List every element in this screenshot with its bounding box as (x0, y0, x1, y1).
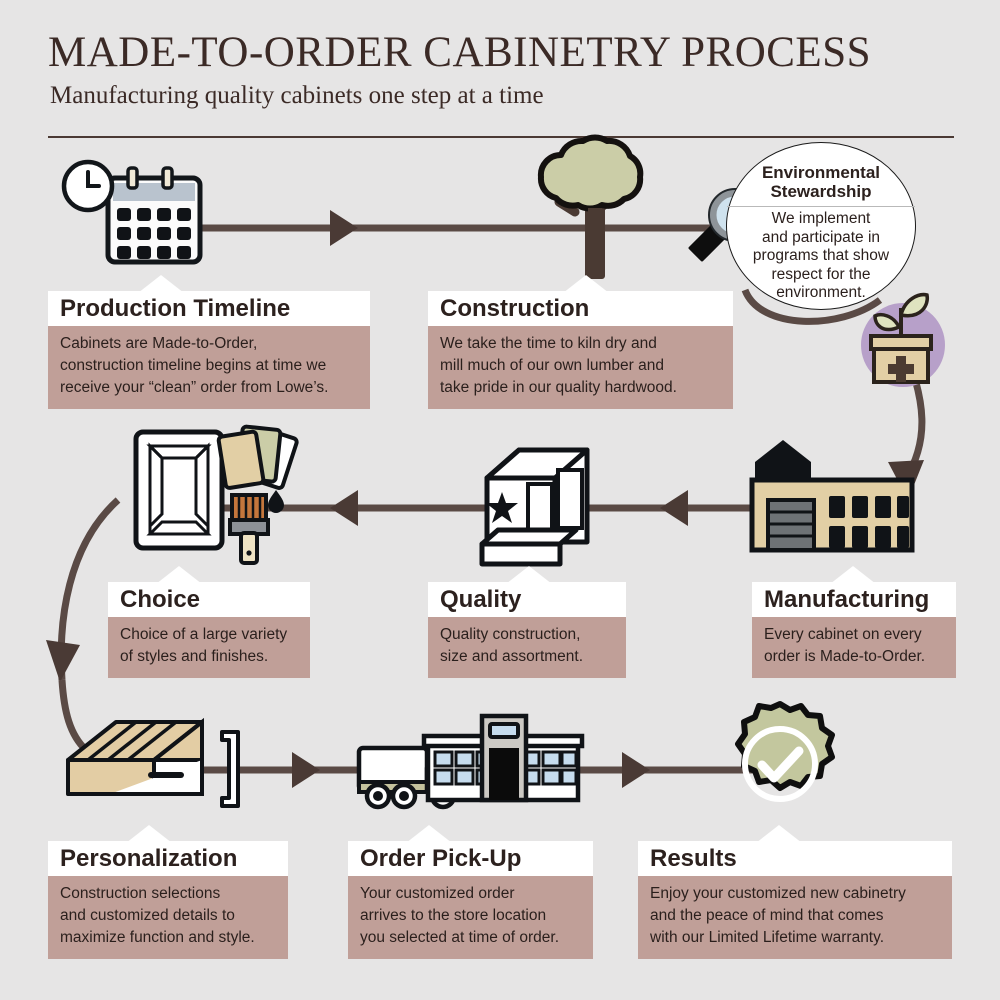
drawer-icon (68, 722, 202, 794)
card-body: Cabinets are Made-to-Order, construction… (48, 326, 370, 409)
card-title: Results (638, 841, 952, 876)
cabinet-door-frame-icon (136, 432, 222, 548)
check-badge-icon (738, 704, 832, 799)
card-title: Personalization (48, 841, 288, 876)
card-choice[interactable]: Choice Choice of a large variety of styl… (108, 582, 310, 678)
card-title: Order Pick-Up (348, 841, 593, 876)
card-body: Choice of a large variety of styles and … (108, 617, 310, 678)
card-title: Production Timeline (48, 291, 370, 326)
calendar-clock-icon (64, 162, 200, 262)
arrowhead-right-2 (292, 752, 320, 788)
bubble-title: Environmental Stewardship (740, 163, 902, 201)
paintbrush-icon (230, 490, 284, 563)
card-results[interactable]: Results Enjoy your customized new cabine… (638, 841, 952, 959)
card-order-pick-up[interactable]: Order Pick-Up Your customized order arri… (348, 841, 593, 959)
card-quality[interactable]: Quality Quality construction, size and a… (428, 582, 626, 678)
card-body: Every cabinet on every order is Made-to-… (752, 617, 956, 678)
cabinet-icon (482, 450, 587, 564)
arrowhead-down-2 (46, 640, 80, 682)
card-body: Quality construction, size and assortmen… (428, 617, 626, 678)
arrowhead-right-3 (622, 752, 650, 788)
card-body: We take the time to kiln dry and mill mu… (428, 326, 733, 409)
card-body: Construction selections and customized d… (48, 876, 288, 959)
card-body: Your customized order arrives to the sto… (348, 876, 593, 959)
bubble-text: We implement and participate in programs… (735, 210, 908, 303)
card-construction[interactable]: Construction We take the time to kiln dr… (428, 291, 733, 409)
arrowhead-right (330, 210, 358, 246)
environmental-stewardship-bubble[interactable]: Environmental Stewardship We implement a… (726, 142, 916, 310)
card-body: Enjoy your customized new cabinetry and … (638, 876, 952, 959)
card-title: Construction (428, 291, 733, 326)
card-title: Quality (428, 582, 626, 617)
card-manufacturing[interactable]: Manufacturing Every cabinet on every ord… (752, 582, 956, 678)
color-swatches-icon (218, 426, 298, 489)
factory-icon (752, 440, 912, 550)
arrowhead-left (330, 490, 358, 526)
bubble-divider (727, 206, 915, 207)
connector-row1 (195, 210, 720, 246)
tree-icon (541, 137, 640, 276)
arrowhead-left-2 (660, 490, 688, 526)
infographic-canvas: MADE-TO-ORDER CABINETRY PROCESS Manufact… (0, 0, 1000, 1000)
card-production-timeline[interactable]: Production Timeline Cabinets are Made-to… (48, 291, 370, 409)
store-icon (424, 716, 582, 800)
card-personalization[interactable]: Personalization Construction selections … (48, 841, 288, 959)
potted-plant-icon (861, 295, 945, 387)
card-title: Choice (108, 582, 310, 617)
card-title: Manufacturing (752, 582, 956, 617)
